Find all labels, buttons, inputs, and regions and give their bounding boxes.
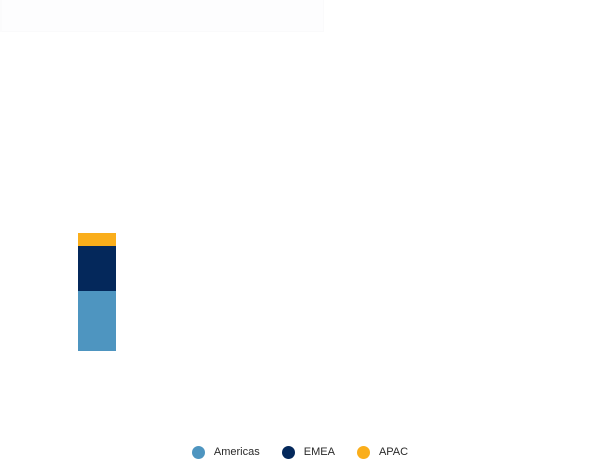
legend-item-americas[interactable]: Americas — [192, 446, 260, 459]
legend-label-emea: EMEA — [304, 446, 335, 459]
top-panel-left-edge — [0, 0, 2, 32]
chart-legend: Americas EMEA APAC — [0, 440, 600, 464]
stacked-bar-column[interactable] — [78, 233, 116, 351]
bar-segment-americas[interactable] — [78, 291, 116, 351]
bar-segment-emea[interactable] — [78, 246, 116, 291]
bar-segment-apac[interactable] — [78, 233, 116, 246]
top-panel-artifact — [0, 0, 324, 32]
legend-swatch-apac-icon — [357, 446, 370, 459]
legend-swatch-americas-icon — [192, 446, 205, 459]
legend-item-emea[interactable]: EMEA — [282, 446, 335, 459]
legend-swatch-emea-icon — [282, 446, 295, 459]
legend-label-americas: Americas — [214, 446, 260, 459]
chart-plot-area — [0, 32, 600, 432]
legend-item-apac[interactable]: APAC — [357, 446, 408, 459]
legend-label-apac: APAC — [379, 446, 408, 459]
